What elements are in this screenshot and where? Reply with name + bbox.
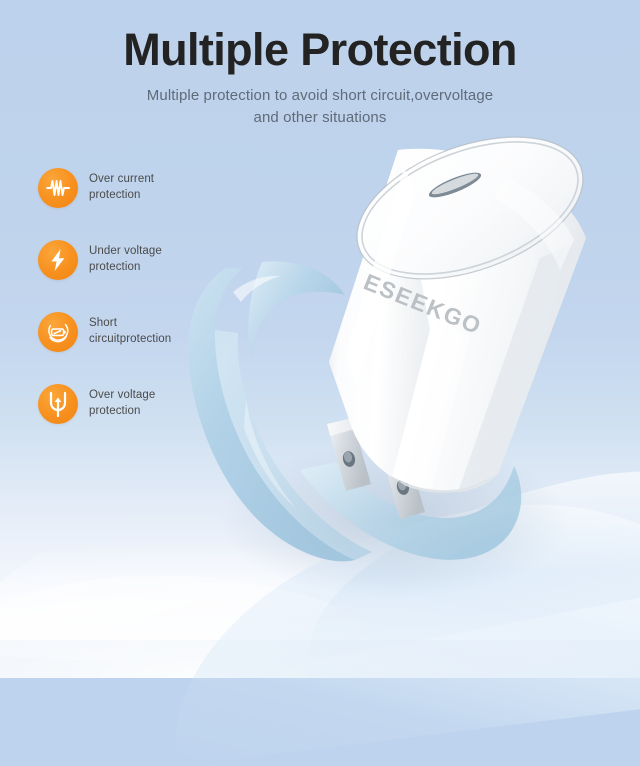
feature-badge	[38, 168, 78, 208]
feature-item-over-current: Over current protection	[38, 162, 238, 214]
feature-label-line2: circuitprotection	[89, 332, 171, 348]
feature-item-short-circuit: Short circuitprotection	[38, 306, 238, 358]
header: Multiple Protection Multiple protection …	[0, 26, 640, 129]
feature-label-line1: Under voltage	[89, 244, 162, 260]
page-title: Multiple Protection	[0, 26, 640, 73]
feature-label-line2: protection	[89, 260, 162, 276]
feature-label: Short circuitprotection	[89, 316, 171, 347]
lightning-bolt-icon	[45, 247, 71, 273]
subtitle-line-2: and other situations	[254, 109, 387, 126]
feature-item-over-voltage: Over voltage protection	[38, 378, 238, 430]
page-subtitle: Multiple protection to avoid short circu…	[0, 85, 640, 129]
feature-label: Under voltage protection	[89, 244, 162, 275]
background-wave-low	[0, 564, 412, 677]
feature-label-line1: Over current	[89, 172, 154, 188]
feature-item-under-voltage: Under voltage protection	[38, 234, 238, 286]
feature-badge	[38, 384, 78, 424]
feature-label-line1: Over voltage	[89, 388, 155, 404]
background-wave-right	[149, 476, 640, 766]
feature-label-line1: Short	[89, 316, 171, 332]
background-wave-left	[0, 486, 640, 678]
plug-arrow-icon	[45, 390, 71, 418]
feature-list: Over current protection Under voltage pr…	[38, 162, 238, 450]
feature-label: Over voltage protection	[89, 388, 155, 419]
feature-label-line2: protection	[89, 404, 155, 420]
feature-label-line2: protection	[89, 188, 154, 204]
background-wave-accent	[287, 439, 640, 662]
feature-badge	[38, 312, 78, 352]
feature-badge	[38, 240, 78, 280]
waveform-icon	[45, 175, 71, 201]
battery-circle-icon	[44, 318, 72, 346]
subtitle-line-1: Multiple protection to avoid short circu…	[147, 87, 493, 104]
feature-label: Over current protection	[89, 172, 154, 203]
